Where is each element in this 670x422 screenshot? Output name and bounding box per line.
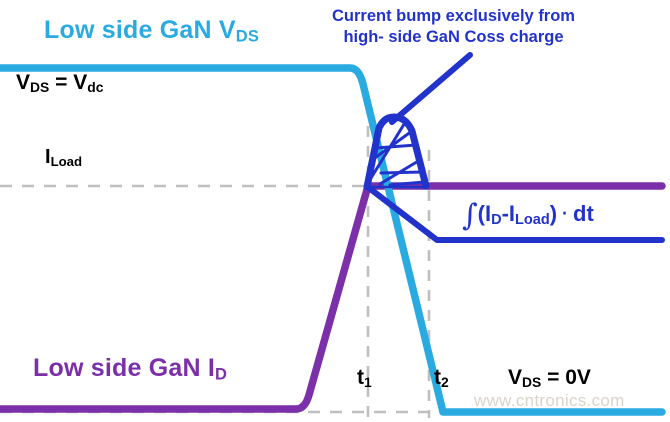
leader-line-bump-annotation [392, 55, 470, 122]
vds0-subscript: DS [522, 374, 541, 390]
vdc-equals: = V [49, 71, 87, 94]
vdc-lhs-subscript: DS [30, 79, 49, 95]
curve-current-bump [367, 117, 426, 187]
vdc-rhs-subscript: dc [87, 79, 103, 95]
iload-subscript: Load [51, 154, 83, 169]
label-t2: t2 [434, 367, 449, 390]
title-low-side-gan-vds: Low side GaN VDS [44, 18, 259, 45]
annotation-line-1: Current bump exclusively from [332, 6, 575, 27]
t2-text: t [434, 366, 441, 389]
label-vds-equals-vdc: VDS = Vdc [16, 72, 103, 95]
label-t1: t1 [357, 367, 372, 390]
watermark: www.cntronics.com [474, 392, 625, 409]
formula-dt: dt [573, 201, 594, 226]
title-id-subscript: D [215, 366, 227, 384]
vds0-equals: = 0V [541, 366, 591, 389]
formula-load-subscript: Load [515, 212, 550, 228]
formula-open-id: (I [478, 201, 491, 226]
vds0-lhs: V [508, 366, 522, 389]
title-id-text: Low side GaN I [33, 354, 215, 382]
title-vds-subscript: DS [236, 28, 259, 46]
label-i-load: ILoad [45, 147, 82, 168]
annotation-line-2: high- side GaN Coss charge [332, 27, 575, 48]
vdc-lhs: V [16, 71, 30, 94]
title-low-side-gan-id: Low side GaN ID [33, 356, 227, 383]
formula-id-subscript: D [491, 212, 501, 228]
t2-subscript: 2 [441, 374, 449, 390]
formula-close-paren: ) [550, 201, 557, 226]
t1-text: t [357, 366, 364, 389]
formula-charge-integral: ∫(ID-ILoad) · dt [462, 201, 594, 231]
label-vds-equals-zero: VDS = 0V [508, 367, 591, 390]
annotation-current-bump: Current bump exclusively fromhigh- side … [332, 6, 575, 48]
formula-minus-iload: -I [502, 201, 515, 226]
title-vds-text: Low side GaN V [44, 16, 236, 44]
waveform-diagram-figure: Low side GaN VDS VDS = Vdc ILoad Low sid… [0, 0, 670, 422]
t1-subscript: 1 [364, 374, 372, 390]
formula-multiply-dot: · [557, 203, 573, 223]
integral-sign-icon: ∫ [462, 198, 478, 233]
